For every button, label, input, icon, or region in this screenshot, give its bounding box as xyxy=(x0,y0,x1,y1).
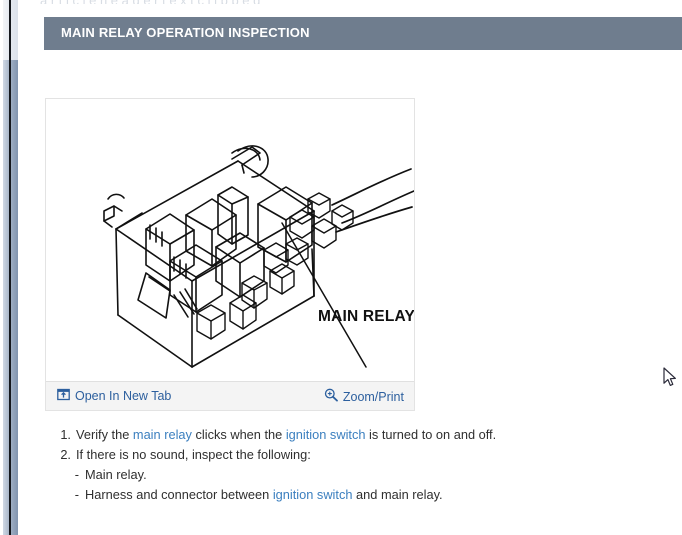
scrollbar-divider xyxy=(9,0,11,535)
link-ignition-switch[interactable]: ignition switch xyxy=(273,487,353,502)
section-header-bar: MAIN RELAY OPERATION INSPECTION xyxy=(44,17,682,50)
open-in-new-tab-label: Open In New Tab xyxy=(75,389,171,403)
figure-toolbar: Open In New Tab Zoom/Print xyxy=(46,381,414,410)
sub-bullet: - xyxy=(45,465,85,485)
open-in-new-tab-icon xyxy=(57,388,70,404)
zoom-print-label: Zoom/Print xyxy=(343,390,404,404)
clipped-text-above: a r t i c l e h e a d e r t e x t c l i … xyxy=(40,0,460,4)
step-text: If there is no sound, inspect the follow… xyxy=(76,445,311,465)
inspection-steps-list: 1. Verify the main relay clicks when the… xyxy=(45,425,645,505)
list-item: - Harness and connector between ignition… xyxy=(45,485,645,505)
step-number: 2. xyxy=(45,445,76,465)
sub-bullet: - xyxy=(45,485,85,505)
diagram-label-main-relay: MAIN RELAY xyxy=(318,308,414,325)
list-item: 1. Verify the main relay clicks when the… xyxy=(45,425,645,445)
figure-image[interactable]: MAIN RELAY xyxy=(46,99,414,381)
step-text: Verify the main relay clicks when the ig… xyxy=(76,425,496,445)
section-title: MAIN RELAY OPERATION INSPECTION xyxy=(61,25,310,40)
relay-box-diagram: MAIN RELAY xyxy=(46,99,414,381)
zoom-print-button[interactable]: Zoom/Print xyxy=(324,388,404,405)
list-item: 2. If there is no sound, inspect the fol… xyxy=(45,445,645,465)
link-ignition-switch[interactable]: ignition switch xyxy=(286,427,366,442)
link-main-relay[interactable]: main relay xyxy=(133,427,192,442)
sub-item-text: Harness and connector between ignition s… xyxy=(85,485,443,505)
sub-item-text: Main relay. xyxy=(85,465,147,485)
magnifier-plus-icon xyxy=(324,388,338,405)
list-item: - Main relay. xyxy=(45,465,645,485)
window-edge xyxy=(0,0,3,535)
vertical-scrollbar[interactable] xyxy=(0,0,18,535)
step-number: 1. xyxy=(45,425,76,445)
document-page: a r t i c l e h e a d e r t e x t c l i … xyxy=(18,0,682,535)
figure-panel: MAIN RELAY Open In New Tab xyxy=(45,98,415,411)
open-in-new-tab-button[interactable]: Open In New Tab xyxy=(57,388,171,404)
